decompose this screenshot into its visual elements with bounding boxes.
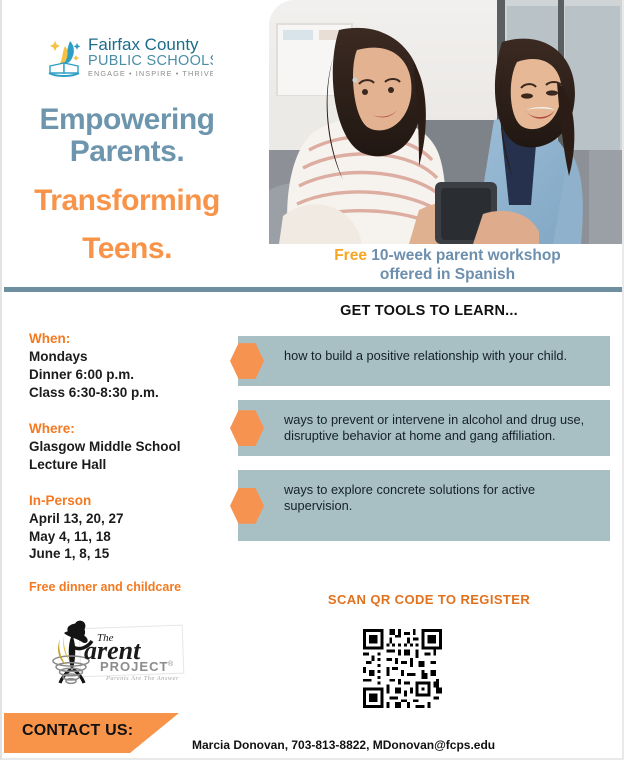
- headline-line-4: Teens.: [2, 233, 252, 265]
- hexagon-bullet-icon: [230, 342, 264, 380]
- when-value-1: Dinner 6:00 p.m.: [29, 366, 229, 384]
- banner-line-2: offered in Spanish: [269, 265, 624, 284]
- inperson-value-1: May 4, 11, 18: [29, 528, 229, 546]
- pp-project: PROJECT: [100, 659, 168, 674]
- tools-heading: GET TOOLS TO LEARN...: [234, 303, 624, 319]
- scan-qr-heading: SCAN QR CODE TO REGISTER: [234, 592, 624, 607]
- pp-tagline: Parents Are The Answer: [105, 675, 179, 682]
- inperson-value-0: April 13, 20, 27: [29, 510, 229, 528]
- banner-line-1: Free 10-week parent workshop: [269, 246, 624, 265]
- tools-item-text-2: ways to explore concrete solutions for a…: [284, 482, 596, 514]
- fcps-logo: Fairfax County PUBLIC SCHOOLS ENGAGE • I…: [48, 33, 213, 83]
- tools-item-1: ways to prevent or intervene in alcohol …: [238, 400, 610, 456]
- contact-banner: CONTACT US:: [4, 713, 179, 753]
- logo-line2: PUBLIC SCHOOLS: [88, 53, 213, 69]
- when-value-0: Mondays: [29, 348, 229, 366]
- headline-line-1: Empowering: [2, 104, 252, 136]
- when-value-2: Class 6:30-8:30 p.m.: [29, 384, 229, 402]
- event-details: When: Mondays Dinner 6:00 p.m. Class 6:3…: [29, 330, 229, 581]
- header-divider: [4, 287, 624, 292]
- qr-code[interactable]: [360, 626, 445, 711]
- where-value-1: Lecture Hall: [29, 456, 229, 474]
- tools-list: how to build a positive relationship wit…: [238, 336, 610, 555]
- where-value-0: Glasgow Middle School: [29, 438, 229, 456]
- hero-photo: [269, 0, 624, 244]
- contact-info: Marcia Donovan, 703-813-8822, MDonovan@f…: [192, 738, 495, 752]
- headline: Empowering Parents. Transforming Teens.: [2, 104, 252, 265]
- when-group: When: Mondays Dinner 6:00 p.m. Class 6:3…: [29, 330, 229, 402]
- tools-item-0: how to build a positive relationship wit…: [238, 336, 610, 386]
- inperson-group: In-Person April 13, 20, 27 May 4, 11, 18…: [29, 492, 229, 564]
- inperson-value-2: June 1, 8, 15: [29, 545, 229, 563]
- hexagon-bullet-icon: [230, 487, 264, 525]
- flyer-page: Fairfax County PUBLIC SCHOOLS ENGAGE • I…: [0, 0, 624, 760]
- tools-item-text-0: how to build a positive relationship wit…: [284, 348, 596, 364]
- banner-rest: 10-week parent workshop: [367, 247, 561, 264]
- contact-label: CONTACT US:: [22, 722, 133, 740]
- workshop-banner: Free 10-week parent workshop offered in …: [269, 244, 624, 286]
- pp-registered: ®: [168, 660, 174, 668]
- banner-free-word: Free: [334, 247, 367, 264]
- logo-line1: Fairfax County: [88, 35, 199, 54]
- headline-line-2: Parents.: [2, 136, 252, 168]
- flame-book-icon: [49, 41, 80, 76]
- parent-project-logo: The arent PROJECT ® Parents Are The Answ…: [40, 617, 185, 689]
- headline-line-3: Transforming: [2, 185, 252, 217]
- tools-item-2: ways to explore concrete solutions for a…: [238, 470, 610, 541]
- where-group: Where: Glasgow Middle School Lecture Hal…: [29, 420, 229, 474]
- free-dinner-note: Free dinner and childcare: [29, 580, 181, 594]
- when-label: When:: [29, 330, 229, 347]
- logo-tagline: ENGAGE • INSPIRE • THRIVE: [88, 69, 213, 78]
- where-label: Where:: [29, 420, 229, 437]
- tools-item-text-1: ways to prevent or intervene in alcohol …: [284, 412, 596, 444]
- inperson-label: In-Person: [29, 492, 229, 509]
- hexagon-bullet-icon: [230, 409, 264, 447]
